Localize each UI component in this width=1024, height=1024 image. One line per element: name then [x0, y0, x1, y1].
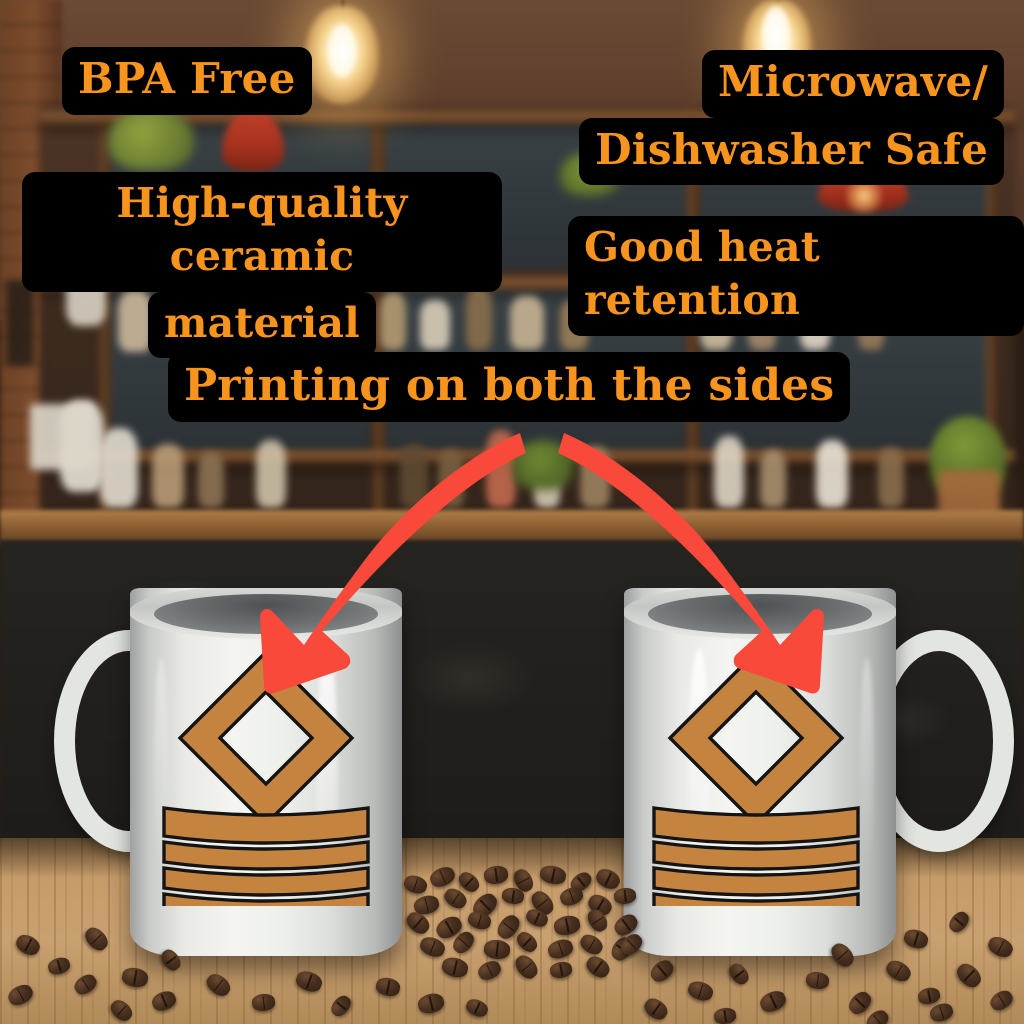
shelf-item — [510, 296, 544, 350]
shelf-item — [256, 440, 286, 508]
shelf-item — [30, 404, 92, 470]
mug-highlight — [860, 658, 874, 868]
shelf-item — [152, 444, 184, 508]
potted-plant — [108, 108, 194, 170]
badge-good-heat-retention: Good heat retention — [568, 216, 1024, 336]
mug-highlight — [688, 648, 710, 898]
mug-right[interactable] — [624, 588, 896, 956]
badge-line: BPA Free — [62, 47, 312, 115]
shelf-item — [816, 440, 848, 508]
badge-printing-on-both-the-sides: Printing on both the sides — [168, 352, 850, 422]
shelf-item — [438, 450, 464, 508]
potted-plant — [512, 440, 574, 490]
badge-bpa-free: BPA Free — [62, 47, 312, 115]
shelf-item — [400, 444, 428, 508]
shelf-item — [714, 436, 744, 508]
bulb-filament — [328, 24, 356, 78]
mug-interior — [154, 594, 377, 634]
badge-line: Printing on both the sides — [168, 352, 850, 422]
mug-interior — [648, 594, 871, 634]
shelf-item — [100, 428, 138, 508]
mug-body — [130, 588, 402, 956]
shelf-item — [198, 452, 224, 508]
shelf-item — [580, 446, 610, 508]
product-marketing-image: BPA Free Microwave/ Dishwasher Safe High… — [0, 0, 1024, 1024]
badge-high-quality-ceramic-material: High-quality ceramic material — [22, 172, 502, 358]
shelf-item — [878, 448, 904, 508]
mug-body — [624, 588, 896, 956]
shelf-item — [760, 450, 786, 508]
badge-line: High-quality ceramic — [22, 172, 502, 292]
badge-line: Dishwasher Safe — [579, 118, 1004, 186]
mug-left[interactable] — [130, 588, 402, 956]
mug-highlight — [316, 648, 338, 898]
badge-line: Microwave/ — [702, 50, 1004, 118]
badge-line: material — [148, 292, 376, 358]
badge-line: Good heat retention — [568, 216, 1024, 336]
mug-insignia-left — [156, 646, 376, 906]
mug-insignia-right — [646, 646, 866, 906]
badge-microwave-dishwasher-safe: Microwave/ Dishwasher Safe — [579, 50, 1004, 185]
mug-highlight — [154, 658, 168, 868]
